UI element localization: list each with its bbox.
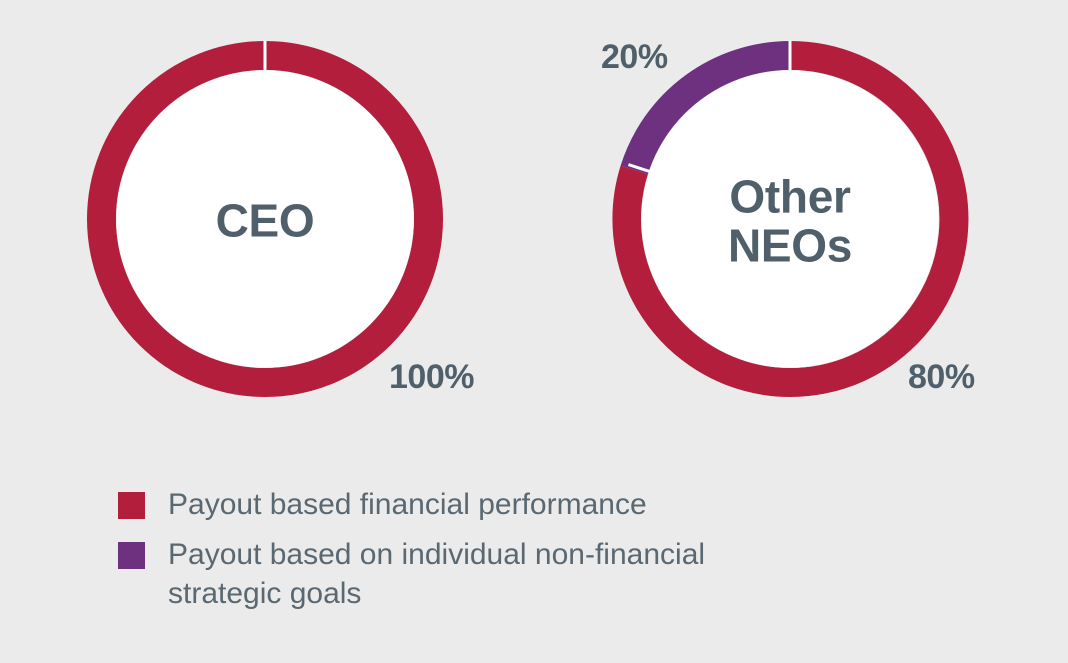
donut-chart-other-neos [627,41,954,382]
ceo-inner-disc [116,70,413,367]
legend-label-financial: Payout based financial performance [168,486,647,524]
chart-legend: Payout based financial performance Payou… [118,486,978,625]
ceo-financial-percent-label: 100% [389,358,474,397]
legend-swatch-financial-icon [118,492,145,519]
legend-item-financial: Payout based financial performance [118,486,978,524]
other-neos-financial-percent-label: 80% [908,358,975,397]
other-neos-nonfinancial-percent-label: 20% [601,38,668,77]
neos-inner-disc [641,70,938,367]
donut-chart-ceo [102,41,429,383]
legend-label-nonfinancial: Payout based on individual non-financial… [168,536,705,613]
donut-charts-area: CEO Other NEOs 100% 20% 80% [0,0,1068,430]
legend-item-nonfinancial: Payout based on individual non-financial… [118,536,978,613]
legend-swatch-nonfinancial-icon [118,542,145,569]
